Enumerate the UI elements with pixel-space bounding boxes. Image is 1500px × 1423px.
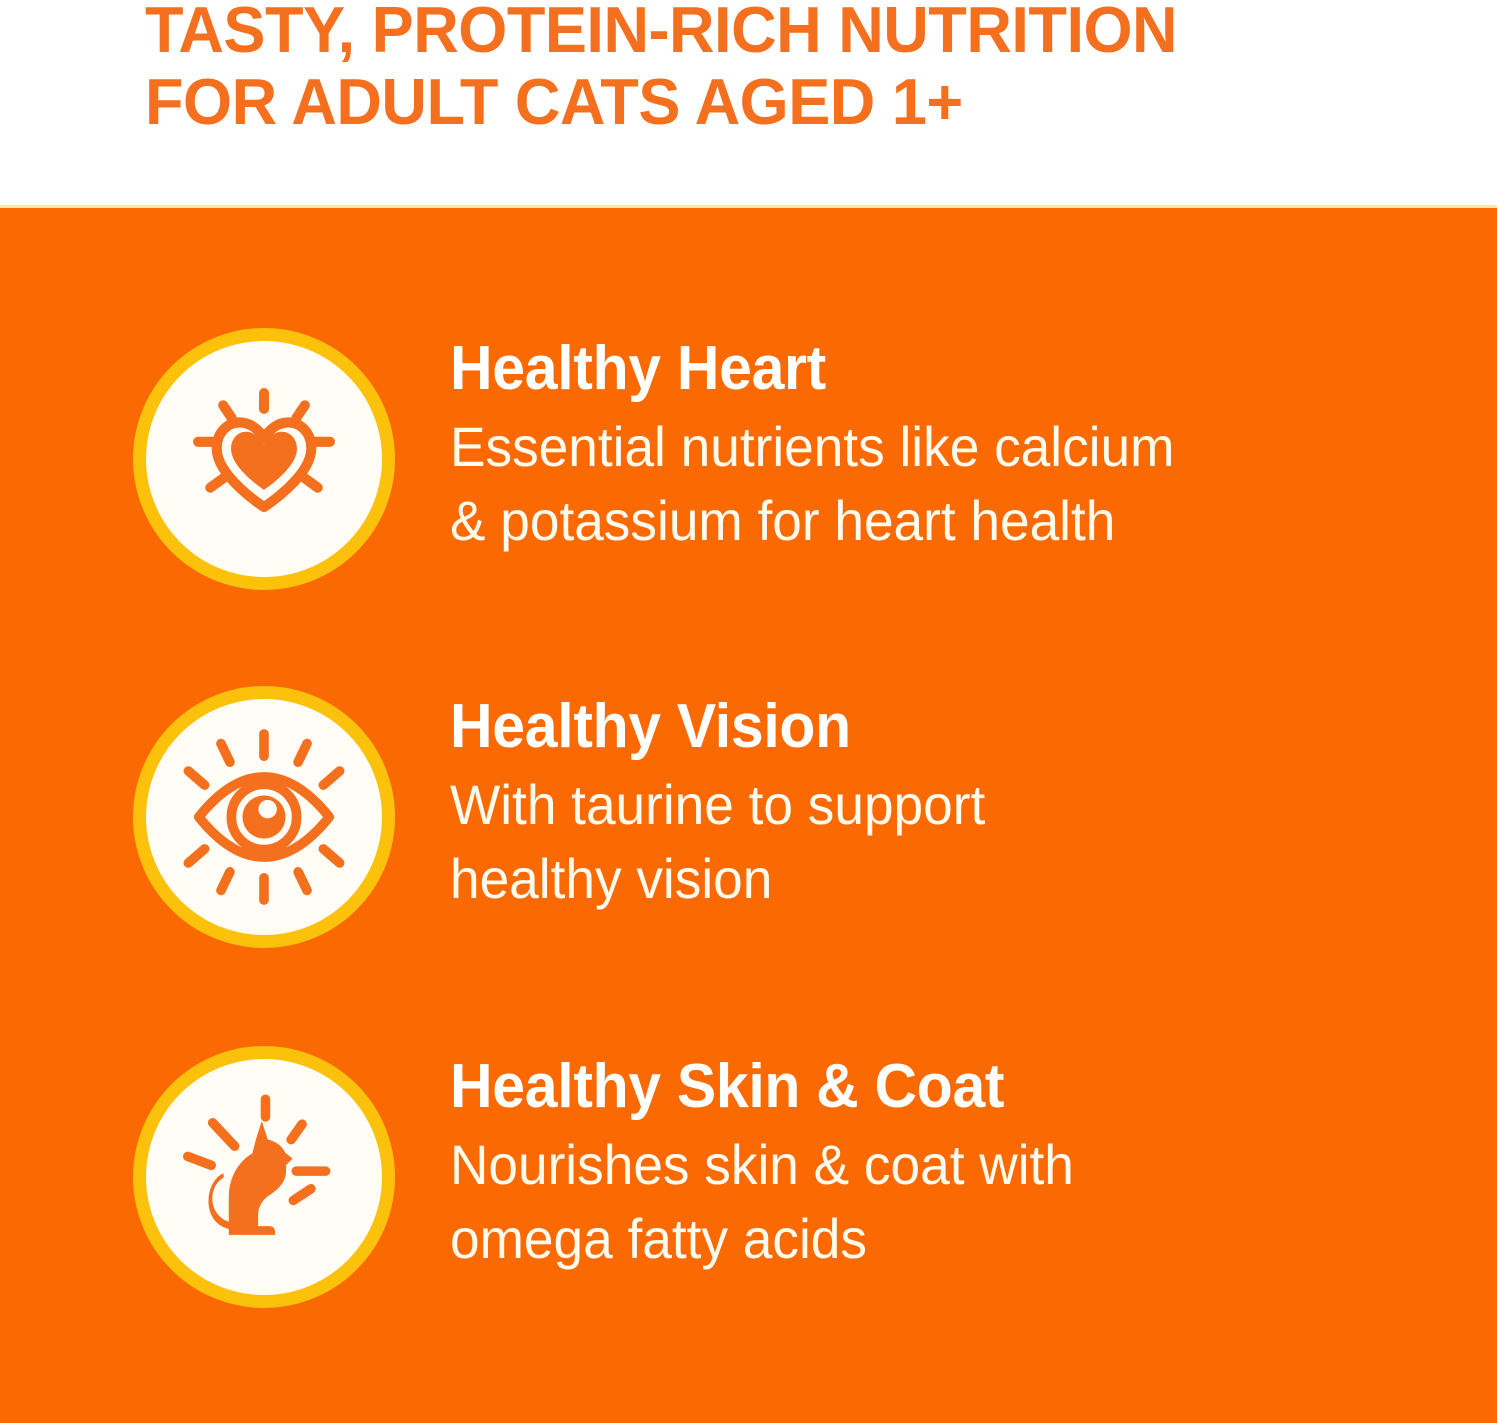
- page-title: TASTY, PROTEIN-RICH NUTRITION FOR ADULT …: [145, 0, 1387, 138]
- heart-rays-icon: [133, 328, 395, 590]
- benefit-icon-wrap: [133, 328, 395, 590]
- eye-rays-icon: [133, 686, 395, 948]
- benefit-item-healthy-vision: Healthy Vision With taurine to support h…: [0, 686, 1400, 948]
- benefit-item-healthy-heart: Healthy Heart Essential nutrients like c…: [0, 328, 1400, 590]
- benefit-text-block: Healthy Heart Essential nutrients like c…: [450, 328, 1400, 558]
- benefit-text-block: Healthy Skin & Coat Nourishes skin & coa…: [450, 1046, 1400, 1276]
- benefit-icon-wrap: [133, 686, 395, 948]
- cat-rays-icon: [133, 1046, 395, 1308]
- benefits-panel: Healthy Heart Essential nutrients like c…: [0, 205, 1497, 1423]
- benefit-description: Essential nutrients like calcium & potas…: [450, 410, 1353, 558]
- benefit-title: Healthy Skin & Coat: [450, 1052, 1353, 1122]
- benefit-description: With taurine to support healthy vision: [450, 768, 1353, 916]
- headline-band: TASTY, PROTEIN-RICH NUTRITION FOR ADULT …: [0, 0, 1500, 205]
- benefit-text-block: Healthy Vision With taurine to support h…: [450, 686, 1400, 916]
- benefit-title: Healthy Vision: [450, 692, 1353, 762]
- benefit-description: Nourishes skin & coat with omega fatty a…: [450, 1128, 1353, 1276]
- benefit-title: Healthy Heart: [450, 334, 1353, 404]
- benefit-icon-wrap: [133, 1046, 395, 1308]
- benefit-item-healthy-skin-coat: Healthy Skin & Coat Nourishes skin & coa…: [0, 1046, 1400, 1308]
